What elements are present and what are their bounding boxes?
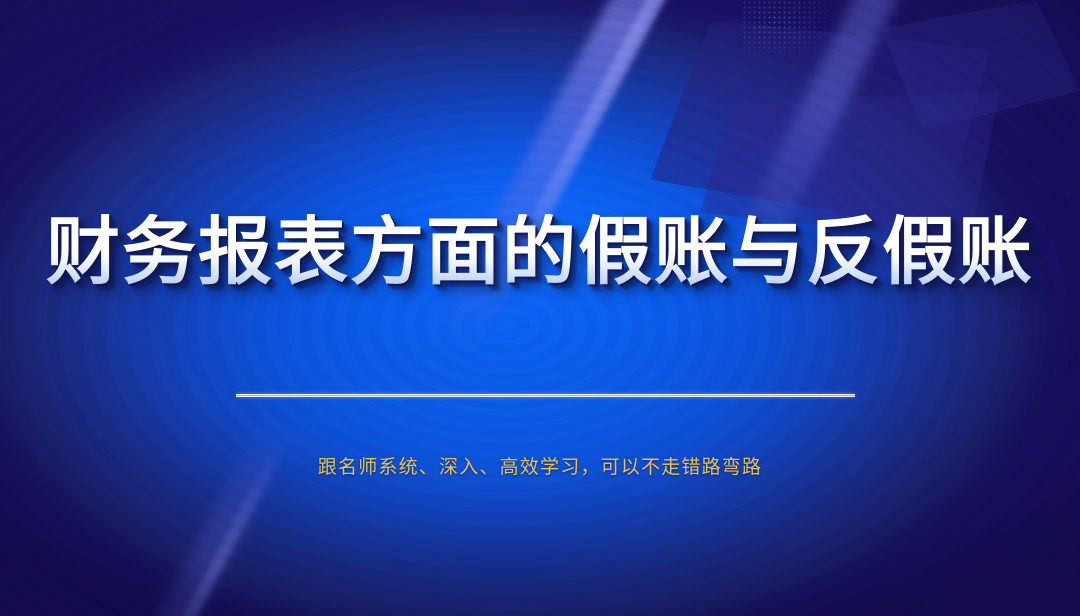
presentation-slide: 财务报表方面的假账与反假账 跟名师系统、深入、高效学习，可以不走错路弯路 [0,0,1080,616]
title-divider [236,394,855,397]
slide-subtitle: 跟名师系统、深入、高效学习，可以不走错路弯路 [0,452,1080,479]
slide-content: 财务报表方面的假账与反假账 跟名师系统、深入、高效学习，可以不走错路弯路 [0,0,1080,616]
slide-title: 财务报表方面的假账与反假账 [0,214,1080,292]
